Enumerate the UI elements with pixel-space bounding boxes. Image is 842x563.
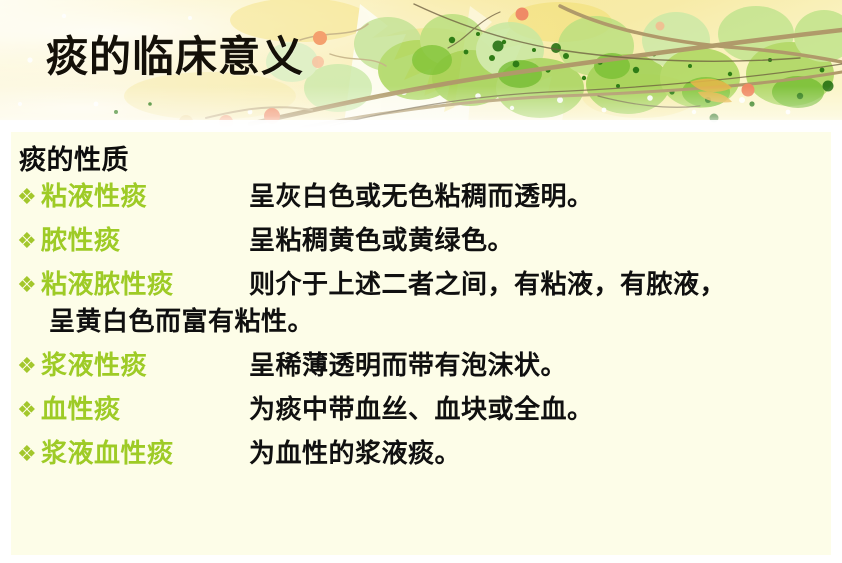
- list-item-description: 呈粘稠黄色或黄绿色。: [249, 223, 831, 260]
- list-item: ❖ 血性痰 为痰中带血丝、血块或全血。: [11, 392, 831, 429]
- list-item: ❖ 粘液脓性痰 则介于上述二者之间，有粘液，有脓液，呈黄白色而富有粘性。: [11, 267, 831, 341]
- list-item: ❖ 脓性痰 呈粘稠黄色或黄绿色。: [11, 223, 831, 260]
- list-item: ❖ 粘液性痰 呈灰白色或无色粘稠而透明。: [11, 179, 831, 216]
- list-item-term: 血性痰: [41, 392, 249, 429]
- diamond-bullet-icon: ❖: [17, 436, 41, 473]
- section-subtitle: 痰的性质: [19, 138, 129, 177]
- list-item-description: 则介于上述二者之间，有粘液，有脓液，呈黄白色而富有粘性。: [249, 267, 831, 341]
- list-item: ❖ 浆液血性痰 为血性的浆液痰。: [11, 436, 831, 473]
- list-item-description: 呈稀薄透明而带有泡沫状。: [249, 348, 831, 385]
- list-item-term: 粘液脓性痰: [41, 267, 249, 304]
- slide-body: 痰的性质 ❖ 粘液性痰 呈灰白色或无色粘稠而透明。 ❖ 脓性痰 呈粘稠黄色或黄绿…: [11, 132, 831, 555]
- diamond-bullet-icon: ❖: [17, 179, 41, 216]
- list-item-term: 粘液性痰: [41, 179, 249, 216]
- diamond-bullet-icon: ❖: [17, 392, 41, 429]
- description-line-2: 呈黄白色而富有粘性。: [49, 304, 831, 341]
- page-title: 痰的临床意义: [46, 34, 304, 79]
- description-line-1: 则介于上述二者之间，有粘液，有脓液，: [249, 270, 726, 300]
- sputum-property-list: ❖ 粘液性痰 呈灰白色或无色粘稠而透明。 ❖ 脓性痰 呈粘稠黄色或黄绿色。 ❖ …: [11, 179, 831, 480]
- list-item-term: 浆液性痰: [41, 348, 249, 385]
- diamond-bullet-icon: ❖: [17, 267, 41, 304]
- list-item-description: 为痰中带血丝、血块或全血。: [249, 392, 831, 429]
- list-item-term: 浆液血性痰: [41, 436, 249, 473]
- list-item: ❖ 浆液性痰 呈稀薄透明而带有泡沫状。: [11, 348, 831, 385]
- presentation-slide: 痰的临床意义 痰的性质 ❖ 粘液性痰 呈灰白色或无色粘稠而透明。 ❖ 脓性痰 呈…: [0, 0, 842, 563]
- list-item-term: 脓性痰: [41, 223, 249, 260]
- list-item-description: 为血性的浆液痰。: [249, 436, 831, 473]
- list-item-description: 呈灰白色或无色粘稠而透明。: [249, 179, 831, 216]
- diamond-bullet-icon: ❖: [17, 223, 41, 260]
- diamond-bullet-icon: ❖: [17, 348, 41, 385]
